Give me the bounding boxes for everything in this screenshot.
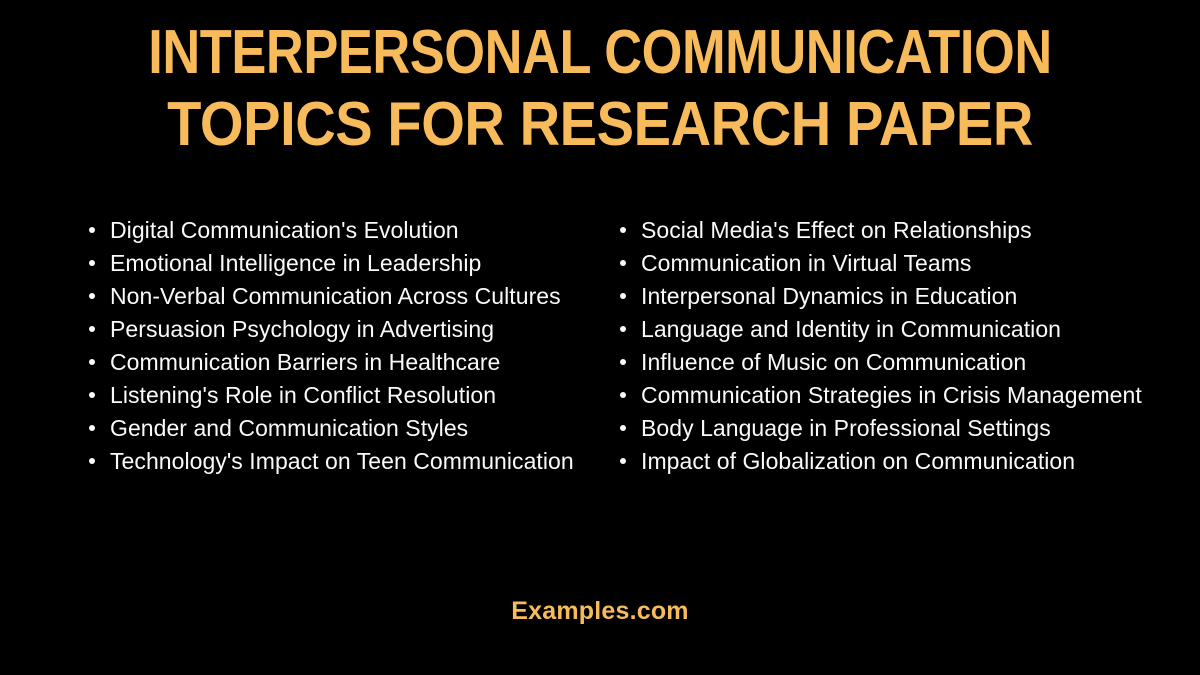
bullet-icon <box>89 260 95 266</box>
list-item: Interpersonal Dynamics in Education <box>609 280 1155 313</box>
bullet-icon <box>89 293 95 299</box>
list-item-label: Language and Identity in Communication <box>641 316 1061 342</box>
topic-list-left: Digital Communication's EvolutionEmotion… <box>78 214 590 478</box>
list-item: Communication Barriers in Healthcare <box>78 346 590 379</box>
bullet-icon <box>89 425 95 431</box>
bullet-icon <box>620 392 626 398</box>
list-item: Non-Verbal Communication Across Cultures <box>78 280 590 313</box>
bullet-icon <box>89 227 95 233</box>
footer: Examples.com <box>0 596 1200 626</box>
list-item-label: Influence of Music on Communication <box>641 349 1026 375</box>
topic-list-right: Social Media's Effect on RelationshipsCo… <box>609 214 1155 478</box>
list-item: Gender and Communication Styles <box>78 412 590 445</box>
poster-canvas: INTERPERSONAL COMMUNICATION TOPICS FOR R… <box>0 0 1200 675</box>
list-item: Influence of Music on Communication <box>609 346 1155 379</box>
list-item-label: Digital Communication's Evolution <box>110 217 459 243</box>
bullet-icon <box>89 326 95 332</box>
page-title-line-1: INTERPERSONAL COMMUNICATION <box>93 22 1107 84</box>
bullet-icon <box>89 392 95 398</box>
bullet-icon <box>620 293 626 299</box>
list-item-label: Persuasion Psychology in Advertising <box>110 316 494 342</box>
list-item-label: Communication in Virtual Teams <box>641 250 971 276</box>
list-item-label: Gender and Communication Styles <box>110 415 468 441</box>
list-item: Technology's Impact on Teen Communicatio… <box>78 445 590 478</box>
bullet-icon <box>620 425 626 431</box>
list-item-label: Communication Barriers in Healthcare <box>110 349 500 375</box>
list-item: Communication Strategies in Crisis Manag… <box>609 379 1155 412</box>
list-item: Emotional Intelligence in Leadership <box>78 247 590 280</box>
list-item: Language and Identity in Communication <box>609 313 1155 346</box>
bullet-icon <box>89 359 95 365</box>
page-title: INTERPERSONAL COMMUNICATION TOPICS FOR R… <box>0 22 1200 156</box>
topics-columns: Digital Communication's EvolutionEmotion… <box>0 214 1200 478</box>
list-item-label: Interpersonal Dynamics in Education <box>641 283 1017 309</box>
bullet-icon <box>620 359 626 365</box>
list-item: Impact of Globalization on Communication <box>609 445 1155 478</box>
bullet-icon <box>620 326 626 332</box>
list-item-label: Body Language in Professional Settings <box>641 415 1051 441</box>
list-item-label: Technology's Impact on Teen Communicatio… <box>110 448 574 474</box>
bullet-icon <box>620 458 626 464</box>
list-item-label: Emotional Intelligence in Leadership <box>110 250 481 276</box>
list-item-label: Social Media's Effect on Relationships <box>641 217 1032 243</box>
topics-column-right: Social Media's Effect on RelationshipsCo… <box>600 214 1200 478</box>
list-item-label: Non-Verbal Communication Across Cultures <box>110 283 561 309</box>
bullet-icon <box>620 260 626 266</box>
list-item: Communication in Virtual Teams <box>609 247 1155 280</box>
brand-watermark: Examples.com <box>511 597 689 625</box>
list-item: Social Media's Effect on Relationships <box>609 214 1155 247</box>
page-title-line-2: TOPICS FOR RESEARCH PAPER <box>57 94 1143 156</box>
list-item: Persuasion Psychology in Advertising <box>78 313 590 346</box>
topics-column-left: Digital Communication's EvolutionEmotion… <box>0 214 600 478</box>
list-item: Digital Communication's Evolution <box>78 214 590 247</box>
list-item: Body Language in Professional Settings <box>609 412 1155 445</box>
list-item: Listening's Role in Conflict Resolution <box>78 379 590 412</box>
list-item-label: Listening's Role in Conflict Resolution <box>110 382 496 408</box>
bullet-icon <box>620 227 626 233</box>
bullet-icon <box>89 458 95 464</box>
list-item-label: Impact of Globalization on Communication <box>641 448 1075 474</box>
list-item-label: Communication Strategies in Crisis Manag… <box>641 382 1142 408</box>
